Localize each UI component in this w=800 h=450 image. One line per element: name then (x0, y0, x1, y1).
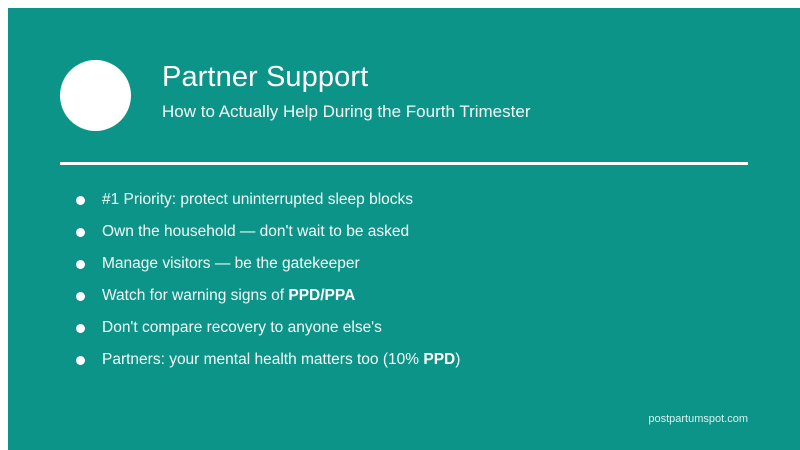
avatar (60, 60, 131, 131)
bullet-list: #1 Priority: protect uninterrupted sleep… (60, 184, 748, 376)
list-item-label: #1 Priority: protect uninterrupted sleep… (102, 190, 413, 210)
list-item-label: Don't compare recovery to anyone else's (102, 318, 382, 338)
slide-canvas: Partner Support How to Actually Help Dur… (8, 8, 800, 450)
list-item: Watch for warning signs of PPD/PPA (60, 280, 748, 312)
page-subtitle: How to Actually Help During the Fourth T… (162, 101, 748, 122)
bullet-dot-icon (76, 292, 85, 301)
list-item-label: Manage visitors — be the gatekeeper (102, 254, 360, 274)
list-item: Manage visitors — be the gatekeeper (60, 248, 748, 280)
footer-source: postpartumspot.com (648, 412, 748, 426)
title-group: Partner Support How to Actually Help Dur… (162, 60, 748, 122)
list-item-label: Watch for warning signs of PPD/PPA (102, 286, 355, 306)
list-item-label: Own the household — don't wait to be ask… (102, 222, 409, 242)
bullet-dot-icon (76, 324, 85, 333)
list-item: Partners: your mental health matters too… (60, 344, 748, 376)
list-item-label-emphasis: PPD (423, 351, 455, 368)
bullet-dot-icon (76, 356, 85, 365)
bullet-dot-icon (76, 228, 85, 237)
list-item-label-emphasis: PPD/PPA (288, 287, 355, 304)
page-title: Partner Support (162, 60, 748, 94)
list-item: #1 Priority: protect uninterrupted sleep… (60, 184, 748, 216)
list-item-label-post: ) (455, 351, 460, 368)
header-divider (60, 162, 748, 165)
bullet-dot-icon (76, 260, 85, 269)
bullet-dot-icon (76, 196, 85, 205)
list-item-label: Partners: your mental health matters too… (102, 350, 460, 370)
list-item-label-pre: Watch for warning signs of (102, 287, 288, 304)
list-item-label-pre: Partners: your mental health matters too… (102, 351, 423, 368)
list-item: Own the household — don't wait to be ask… (60, 216, 748, 248)
list-item: Don't compare recovery to anyone else's (60, 312, 748, 344)
slide-header: Partner Support How to Actually Help Dur… (60, 60, 748, 140)
